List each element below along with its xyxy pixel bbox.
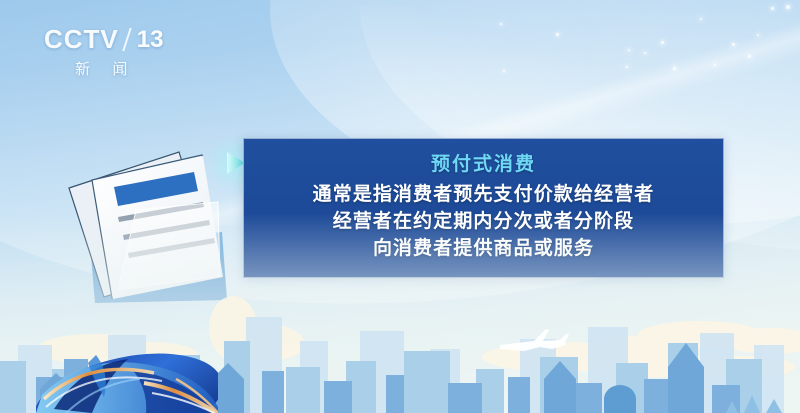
logo-slash-divider	[122, 28, 131, 51]
airplane-icon	[500, 329, 569, 351]
channel-number: 13	[137, 28, 164, 52]
caption-line-2: 经营者在约定期内分次或者分阶段	[333, 209, 635, 236]
caption-title: 预付式消费	[431, 151, 536, 180]
channel-name: CCTV	[44, 26, 119, 52]
channel-subtitle: 新 闻	[44, 58, 163, 79]
news-swirl-bumper	[36, 339, 218, 413]
caption-line-3: 向消费者提供商品或服务	[373, 236, 594, 263]
broadcast-screenshot: CCTV 13 新 闻	[0, 0, 800, 413]
caption-box: 预付式消费 通常是指消费者预先支付价款给经营者 经营者在约定期内分次或者分阶段 …	[243, 138, 724, 278]
logo-main-row: CCTV 13	[44, 26, 163, 52]
caption-line-1: 通常是指消费者预先支付价款给经营者	[313, 182, 655, 209]
cctv-logo-icon: CCTV 13 新 闻	[44, 26, 163, 79]
